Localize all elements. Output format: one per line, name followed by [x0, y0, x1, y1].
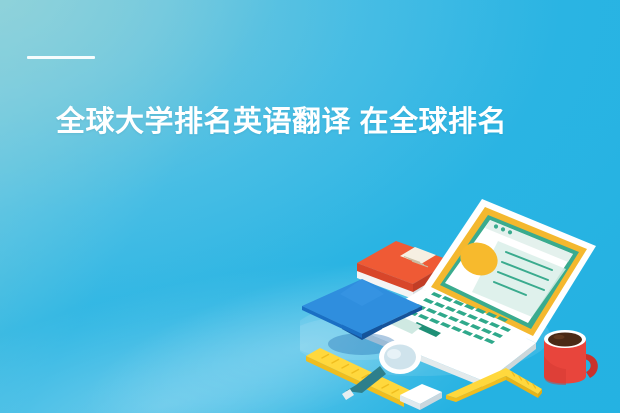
screen-dot: [501, 227, 505, 231]
accent-rule: [27, 56, 95, 59]
coffee-mug: [544, 330, 598, 385]
page-title: 全球大学排名英语翻译 在全球排名: [56, 104, 616, 140]
screen-dot: [494, 224, 498, 228]
screen-dot: [508, 230, 512, 234]
cover-image: 全球大学排名英语翻译 在全球排名: [0, 0, 620, 413]
study-desk-illustration: [300, 186, 620, 413]
eraser: [400, 384, 442, 410]
